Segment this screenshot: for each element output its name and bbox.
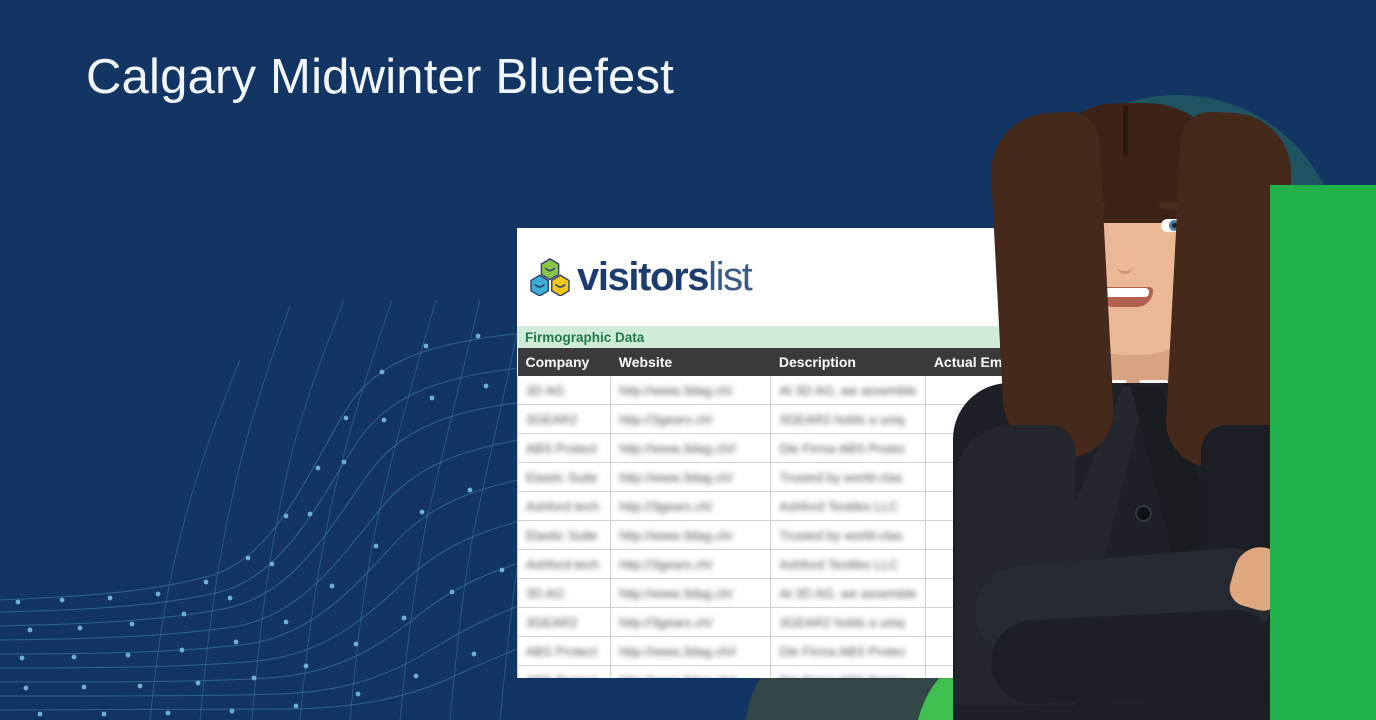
cell-website: http://www.3dag.ch/ bbox=[611, 521, 771, 550]
page-title: Calgary Midwinter Bluefest bbox=[60, 48, 700, 108]
cell-website: http://www.3dag.ch/ bbox=[611, 463, 771, 492]
logo-light-text: list bbox=[708, 255, 751, 299]
cell-website: http://3gears.ch/ bbox=[611, 608, 771, 637]
cell-website: http://3gears.ch/ bbox=[611, 405, 771, 434]
logo-bold-text: visitors bbox=[577, 255, 708, 299]
cell-description: 3GEAR2 holds a uniq bbox=[771, 405, 926, 434]
cell-company: ABS Protect bbox=[518, 434, 611, 463]
cell-description: 3GEAR2 holds a uniq bbox=[771, 608, 926, 637]
green-right-edge bbox=[1270, 185, 1376, 720]
cell-company: Elastic Suite bbox=[518, 521, 611, 550]
cell-website: http://www.3dag.ch// bbox=[611, 434, 771, 463]
hexagon-logo-icon bbox=[530, 258, 570, 296]
cell-description: At 3D AG, we assemble bbox=[771, 376, 926, 405]
cell-company: Elastic Suite bbox=[518, 463, 611, 492]
cell-description: Ashford Textiles LLC bbox=[771, 492, 926, 521]
network-mesh-decoration bbox=[0, 300, 560, 720]
cell-description: Die Firma ABS Protec bbox=[771, 434, 926, 463]
column-header-website[interactable]: Website bbox=[611, 348, 771, 376]
cell-description: Die Firma ABS Protec bbox=[771, 637, 926, 666]
cell-website: http://www.3dag.ch// bbox=[611, 637, 771, 666]
cell-company: Ashford tech bbox=[518, 492, 611, 521]
cell-description: Ashford Textiles LLC bbox=[771, 550, 926, 579]
cell-company: 3D AG bbox=[518, 579, 611, 608]
cell-website: http://www.3dag.ch/ bbox=[611, 579, 771, 608]
column-header-company[interactable]: Company bbox=[518, 348, 611, 376]
cell-description: Trusted by world-clas bbox=[771, 521, 926, 550]
cell-description: Die Firma ABS Protec bbox=[771, 666, 926, 679]
column-header-description[interactable]: Description bbox=[771, 348, 926, 376]
cell-company: 3GEAR2 bbox=[518, 405, 611, 434]
cell-description: At 3D AG, we assemble bbox=[771, 579, 926, 608]
logo-wordmark: visitorslist bbox=[577, 257, 751, 297]
cell-website: http://www.3dag.ch// bbox=[611, 666, 771, 679]
cell-website: http://www.3dag.ch/ bbox=[611, 376, 771, 405]
cell-company: ABS Protect bbox=[518, 666, 611, 679]
cell-website: http://3gears.ch/ bbox=[611, 550, 771, 579]
cell-company: ABS Protect bbox=[518, 637, 611, 666]
visitorslist-logo: visitorslist bbox=[530, 257, 751, 297]
promo-banner: Calgary Midwinter Bluefest bbox=[0, 0, 1376, 720]
cell-description: Trusted by world-clas bbox=[771, 463, 926, 492]
cell-company: 3D AG bbox=[518, 376, 611, 405]
cell-company: 3GEAR2 bbox=[518, 608, 611, 637]
cell-website: http://3gears.ch/ bbox=[611, 492, 771, 521]
cell-company: Ashford tech bbox=[518, 550, 611, 579]
